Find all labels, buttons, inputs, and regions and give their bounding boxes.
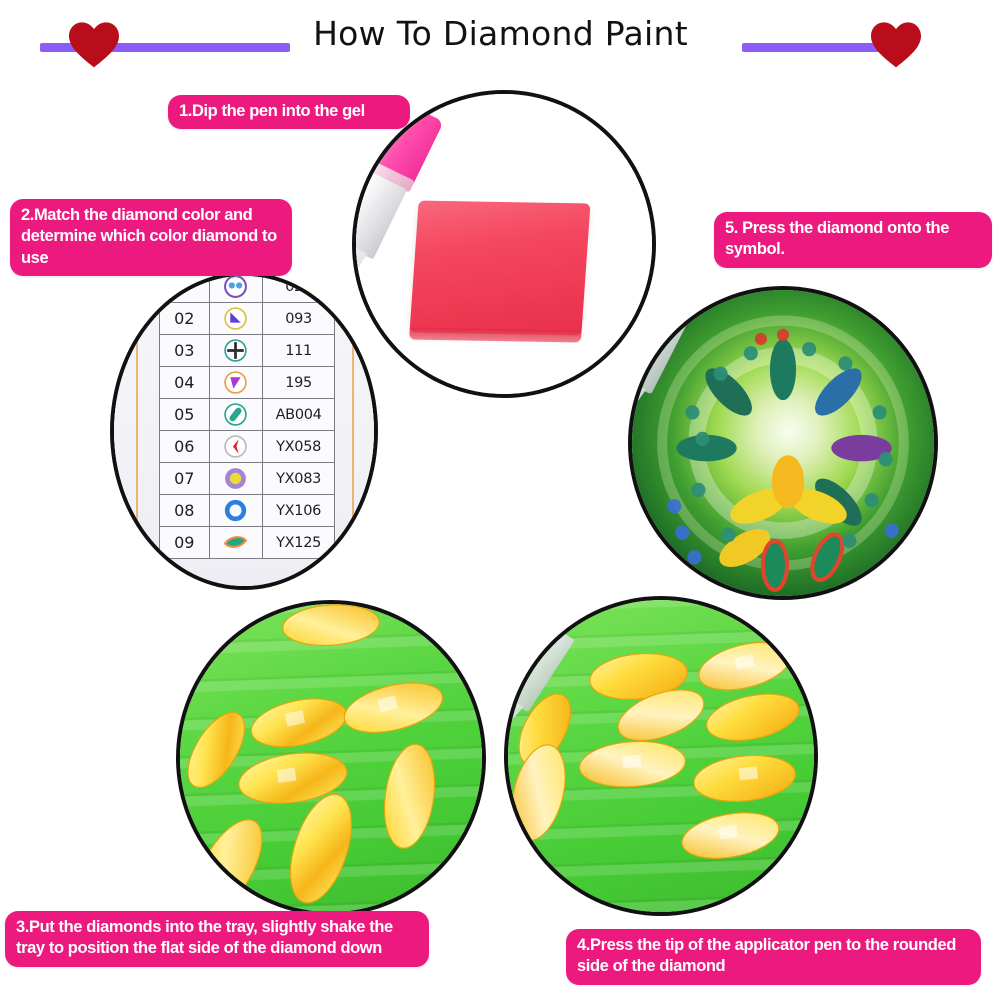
cell-code: YX083 [263, 463, 335, 495]
scene-diamond-tray [180, 604, 482, 912]
cell-number: 04 [160, 367, 210, 399]
step-4-label: 4.Press the tip of the applicator pen to… [566, 929, 981, 985]
table-row: 04 195 [160, 367, 335, 399]
cell-symbol [209, 399, 263, 431]
yellow-diamonds-group [180, 604, 482, 912]
scene-color-chart: 020 02 093 03 [114, 276, 374, 586]
chart-guide-line-right [352, 276, 354, 586]
cell-symbol [209, 527, 263, 559]
table-row: 07 YX083 [160, 463, 335, 495]
cell-code: YX125 [263, 527, 335, 559]
open-ring-icon [223, 498, 248, 523]
table-row: 05 AB004 [160, 399, 335, 431]
cell-symbol [209, 495, 263, 527]
chart-guide-line-left [136, 276, 138, 586]
step-3-label: 3.Put the diamonds into the tray, slight… [5, 911, 429, 967]
left-chevron-icon [223, 434, 248, 459]
cell-code: YX058 [263, 431, 335, 463]
cell-number: 03 [160, 335, 210, 367]
two-dots-circle-icon [223, 274, 248, 299]
filled-triangle-icon [223, 306, 248, 331]
header-banner: How To Diamond Paint [0, 0, 1001, 80]
table-row: 06 YX058 [160, 431, 335, 463]
cell-number [160, 272, 210, 303]
cell-symbol [209, 303, 263, 335]
cell-number: 08 [160, 495, 210, 527]
cell-code: 093 [263, 303, 335, 335]
cell-code: AB004 [263, 399, 335, 431]
step-1-photo [352, 90, 656, 398]
step-1-label: 1.Dip the pen into the gel [168, 95, 410, 129]
cell-code: 020 [263, 272, 335, 303]
cell-number: 05 [160, 399, 210, 431]
red-gel-pad [409, 201, 590, 336]
table-row: 08 YX106 [160, 495, 335, 527]
table-row: 02 093 [160, 303, 335, 335]
color-symbol-table: 020 02 093 03 [159, 272, 335, 559]
step-3-photo [176, 600, 486, 916]
filled-triangle-icon [223, 370, 248, 395]
cell-code: YX106 [263, 495, 335, 527]
infographic-canvas: How To Diamond Paint [0, 0, 1001, 1001]
scene-pen-gel [356, 94, 652, 394]
filled-dot-icon [223, 466, 248, 491]
table-row: 09 YX125 [160, 527, 335, 559]
cell-symbol [209, 463, 263, 495]
cell-number: 02 [160, 303, 210, 335]
scene-pen-picking-diamond [508, 600, 814, 912]
pen-body [352, 172, 407, 259]
cell-symbol [209, 367, 263, 399]
cell-symbol [209, 431, 263, 463]
step-2-label: 2.Match the diamond color and determine … [10, 199, 292, 276]
page-title: How To Diamond Paint [0, 14, 1001, 53]
cell-symbol [209, 335, 263, 367]
step-2-photo: 020 02 093 03 [110, 272, 378, 590]
step-4-photo [504, 596, 818, 916]
step-5-label: 5. Press the diamond onto the symbol. [714, 212, 992, 268]
cell-number: 06 [160, 431, 210, 463]
cell-code: 111 [263, 335, 335, 367]
cell-number: 07 [160, 463, 210, 495]
scene-canvas-mandala [632, 290, 934, 596]
diagonal-capsule-icon [223, 402, 248, 427]
table-row: 020 [160, 272, 335, 303]
table-row: 03 111 [160, 335, 335, 367]
leaf-marquise-icon [223, 530, 248, 555]
cell-symbol [209, 272, 263, 303]
cell-code: 195 [263, 367, 335, 399]
plus-cross-icon [223, 338, 248, 363]
step-5-photo [628, 286, 938, 600]
cell-number: 09 [160, 527, 210, 559]
